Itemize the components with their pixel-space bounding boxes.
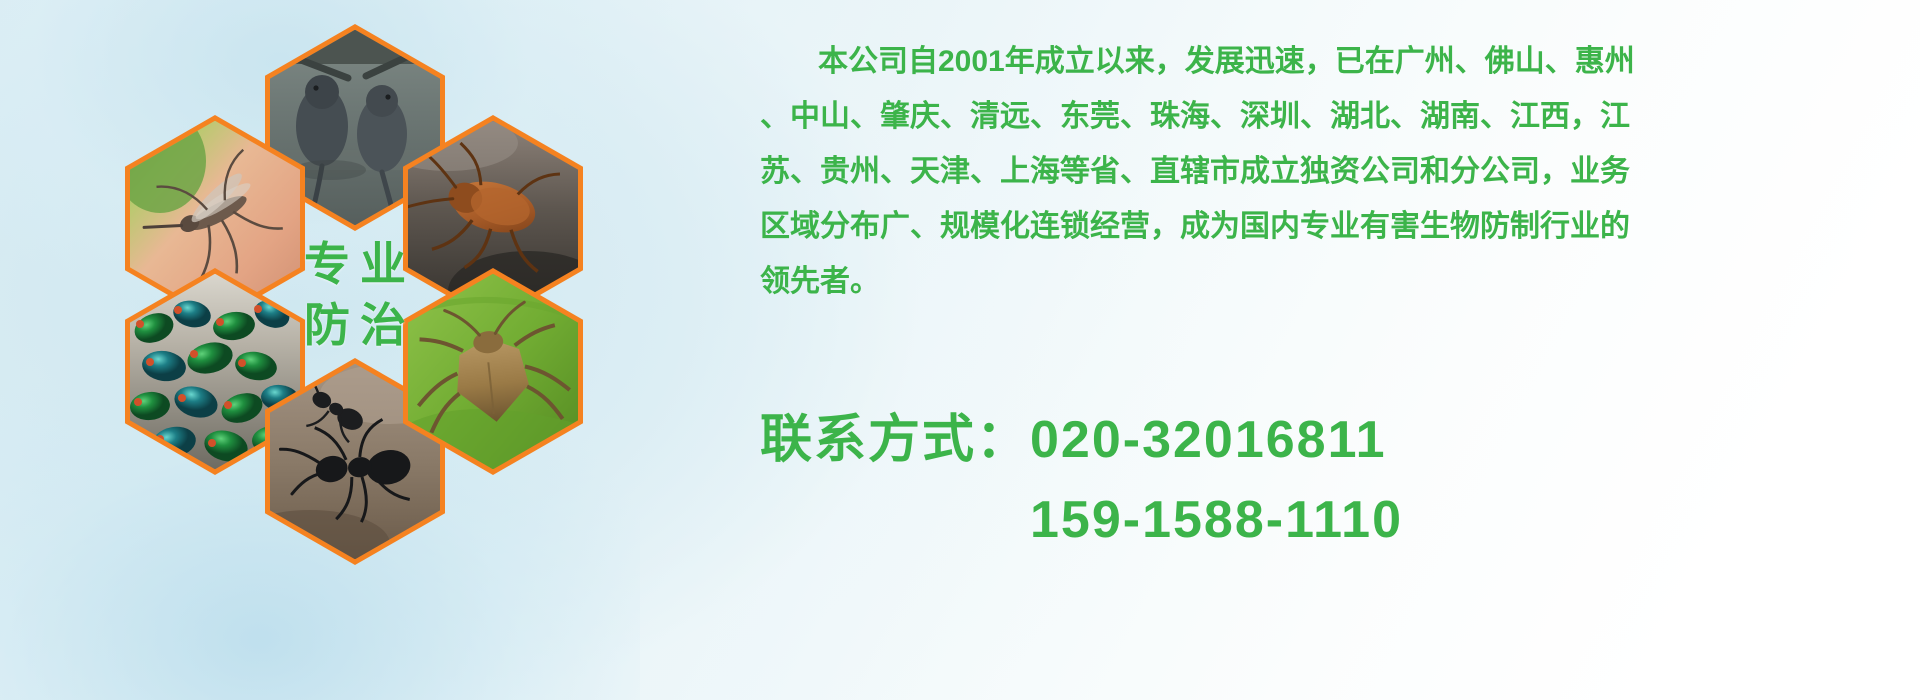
badge-line-1: 专业	[294, 238, 416, 291]
badge-line-2: 防治	[294, 299, 416, 352]
contact-phone-primary[interactable]: 联系方式：020-32016811	[760, 400, 1900, 480]
intro-line-2: 、中山、肇庆、清远、东莞、珠海、深圳、湖北、湖南、江西，江	[760, 89, 1900, 144]
intro-line-5: 领先者。	[760, 254, 1900, 309]
intro-line-1: 本公司自2001年成立以来，发展迅速，已在广州、佛山、惠州	[760, 34, 1900, 89]
badge-专业防治: 专业 防治	[265, 191, 445, 398]
intro-line-4: 区域分布广、规模化连锁经营，成为国内专业有害生物防制行业的	[760, 199, 1900, 254]
intro-line-3: 苏、贵州、天津、上海等省、直辖市成立独资公司和分公司，业务	[760, 144, 1900, 199]
banner-canvas: 专业 防治 本公司自2001年成立以来，发展迅速，已在广州、佛山、惠州 、中山、…	[0, 0, 1920, 700]
intro-paragraph: 本公司自2001年成立以来，发展迅速，已在广州、佛山、惠州 、中山、肇庆、清远、…	[760, 34, 1900, 309]
hexagon-photo-cluster: 专业 防治	[100, 10, 600, 570]
contact-block: 联系方式：020-32016811 159-1588-1110	[760, 400, 1900, 560]
contact-phone-secondary[interactable]: 159-1588-1110	[760, 480, 1900, 560]
